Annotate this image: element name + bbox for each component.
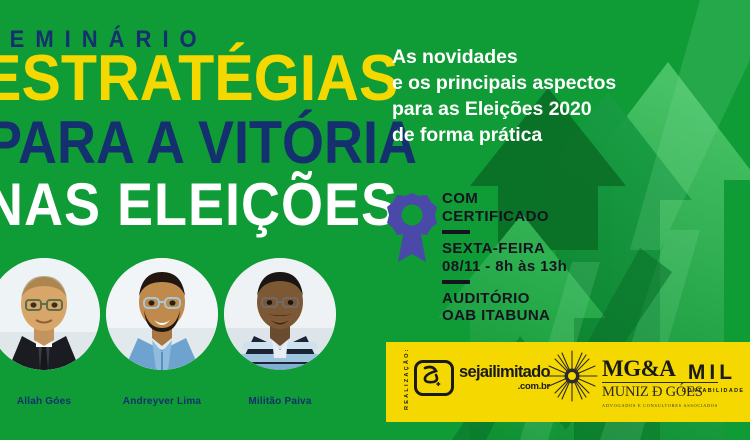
award-rosette-icon — [386, 192, 438, 266]
realizacao-label: REALIZAÇÃO: — [404, 354, 410, 410]
headline-line-2: PARA A VITÓRIA — [0, 118, 417, 168]
divider-rule-2 — [442, 280, 470, 284]
mil-name: MIL — [682, 362, 742, 383]
sejailimitado-wordmark: sejailimitado .com.br — [459, 364, 550, 393]
logo-sejailimitado[interactable]: sejailimitado .com.br — [414, 360, 550, 396]
headline-line-3: NAS ELEIÇÕES — [0, 180, 398, 230]
certificate-line-1: COM — [442, 190, 567, 208]
speaker-card: Allah Góes — [0, 258, 100, 407]
event-details-text: COM CERTIFICADO SEXTA-FEIRA 08/11 - 8h à… — [442, 190, 567, 325]
avatar — [106, 258, 218, 370]
infinity-square-icon — [414, 360, 454, 396]
event-details: COM CERTIFICADO SEXTA-FEIRA 08/11 - 8h à… — [386, 190, 646, 340]
lede-line-4: de forma prática — [392, 122, 722, 148]
date-line-1: SEXTA-FEIRA — [442, 240, 567, 258]
lede-copy: As novidades e os principais aspectos pa… — [392, 44, 722, 149]
speaker-photo-1 — [0, 258, 100, 370]
sejailimitado-name: sejailimitado — [459, 364, 550, 381]
speakers-row: Allah Góes — [0, 248, 350, 440]
speaker-card: Andreyver Lima — [106, 258, 218, 407]
speaker-name: Militão Paiva — [224, 396, 336, 407]
event-poster: SEMINÁRIO ESTRATÉGIAS PARA A VITÓRIA NAS… — [0, 0, 750, 440]
lede-line-1: As novidades — [392, 44, 722, 70]
mil-tagline: CONTABILIDADE — [682, 388, 742, 394]
venue-line-2: OAB ITABUNA — [442, 307, 567, 325]
speaker-card: Militão Paiva — [224, 258, 336, 407]
lede-line-2: e os principais aspectos — [392, 70, 722, 96]
sunburst-icon — [546, 350, 598, 407]
avatar — [224, 258, 336, 370]
venue-line-1: AUDITÓRIO — [442, 290, 567, 308]
speaker-photo-2 — [106, 258, 218, 370]
speaker-name: Andreyver Lima — [106, 396, 218, 407]
certificate-line-2: CERTIFICADO — [442, 208, 567, 226]
lede-line-3: para as Eleições 2020 — [392, 96, 722, 122]
divider-rule-1 — [442, 230, 470, 234]
speaker-name: Allah Góes — [0, 396, 100, 407]
date-line-2: 08/11 - 8h às 13h — [442, 258, 567, 276]
sejailimitado-tld: .com.br — [459, 381, 550, 392]
logo-mil[interactable]: MIL CONTABILIDADE — [682, 362, 742, 394]
headline-block: SEMINÁRIO ESTRATÉGIAS PARA A VITÓRIA NAS… — [0, 0, 355, 250]
avatar — [0, 258, 100, 370]
speaker-photo-3 — [224, 258, 336, 370]
sponsor-logo-bar: REALIZAÇÃO: sejailimitado .com.br — [386, 342, 750, 422]
mga-tagline: ADVOGADOS E CONSULTORES ASSOCIADOS — [602, 403, 718, 408]
headline-line-1: ESTRATÉGIAS — [0, 52, 398, 105]
